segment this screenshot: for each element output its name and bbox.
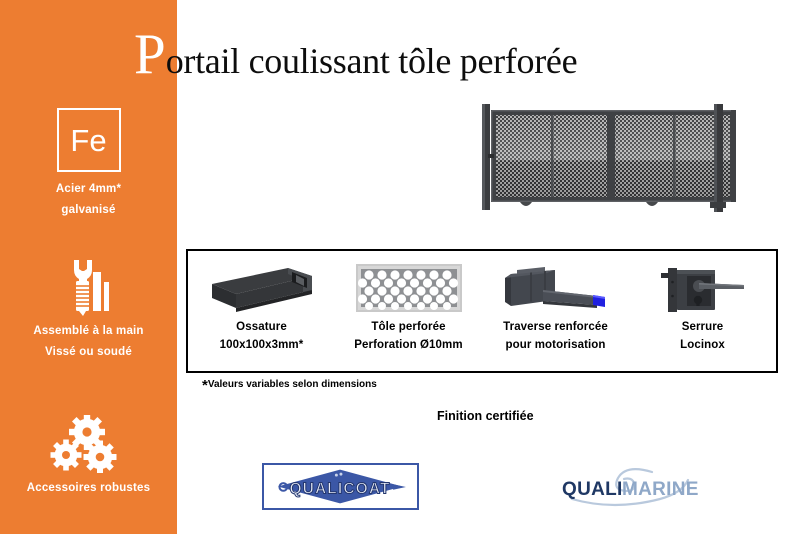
feature-serrure-line-1: Serrure <box>682 320 724 334</box>
sliding-gate-photo <box>478 98 770 220</box>
feature-traverse-line-2: pour motorisation <box>505 338 605 352</box>
perforated-sheet-icon <box>355 259 463 317</box>
feature-tole-line-1: Tôle perforée <box>371 320 445 334</box>
page-title: Portail coulissant tôle perforée <box>134 26 577 84</box>
lock-icon <box>654 259 752 317</box>
feature-serrure-line-2: Locinox <box>680 338 725 352</box>
sidebar-item-assembly-label-1: Assemblé à la main <box>0 325 177 337</box>
steel-tube-profile-icon <box>206 259 318 317</box>
qualimarine-wordmark-secondary: MARINE <box>622 479 699 500</box>
qualicoat-wordmark: QUALICOAT <box>289 480 390 497</box>
footnote-text: Valeurs variables selon dimensions <box>208 379 377 390</box>
feature-ossature: Ossature 100x100x3mm* <box>188 251 335 371</box>
datasheet-page: Fe Acier 4mm* galvanisé <box>0 0 800 534</box>
footnote: *Valeurs variables selon dimensions <box>202 379 377 393</box>
feature-ossature-line-2: 100x100x3mm* <box>220 338 304 352</box>
qualimarine-logo: QUALI MARINE <box>556 466 708 508</box>
wrench-tools-icon <box>58 258 120 316</box>
sidebar-item-accessories: Accessoires robustes <box>0 415 177 494</box>
qualimarine-wordmark-primary: QUALI <box>562 479 623 500</box>
feature-tole-perforee: Tôle perforée Perforation Ø10mm <box>335 251 482 371</box>
page-title-initial: P <box>134 26 165 83</box>
fe-symbol-text: Fe <box>70 125 106 156</box>
gears-icon <box>47 415 131 473</box>
feature-ossature-line-1: Ossature <box>236 320 287 334</box>
feature-tole-line-2: Perforation Ø10mm <box>354 338 462 352</box>
sidebar-item-assembly-label-2: Vissé ou soudé <box>0 346 177 358</box>
sidebar-item-steel-label-1: Acier 4mm* <box>0 183 177 195</box>
feature-serrure: Serrure Locinox <box>629 251 776 371</box>
sidebar-item-steel-label-2: galvanisé <box>0 204 177 216</box>
features-box: Ossature 100x100x3mm* <box>186 249 778 373</box>
fe-element-box-icon: Fe <box>57 108 121 172</box>
sidebar-item-steel: Fe Acier 4mm* galvanisé <box>0 108 177 216</box>
sidebar-item-accessories-label-1: Accessoires robustes <box>0 482 177 494</box>
sidebar-item-assembly: Assemblé à la main Vissé ou soudé <box>0 258 177 358</box>
page-title-rest: ortail coulissant tôle perforée <box>166 43 578 79</box>
qualicoat-logo: QUALICOAT <box>262 463 419 510</box>
certification-heading: Finition certifiée <box>437 409 534 423</box>
feature-traverse: Traverse renforcée pour motorisation <box>482 251 629 371</box>
feature-traverse-line-1: Traverse renforcée <box>503 320 608 334</box>
motor-crossbar-icon <box>497 259 615 317</box>
